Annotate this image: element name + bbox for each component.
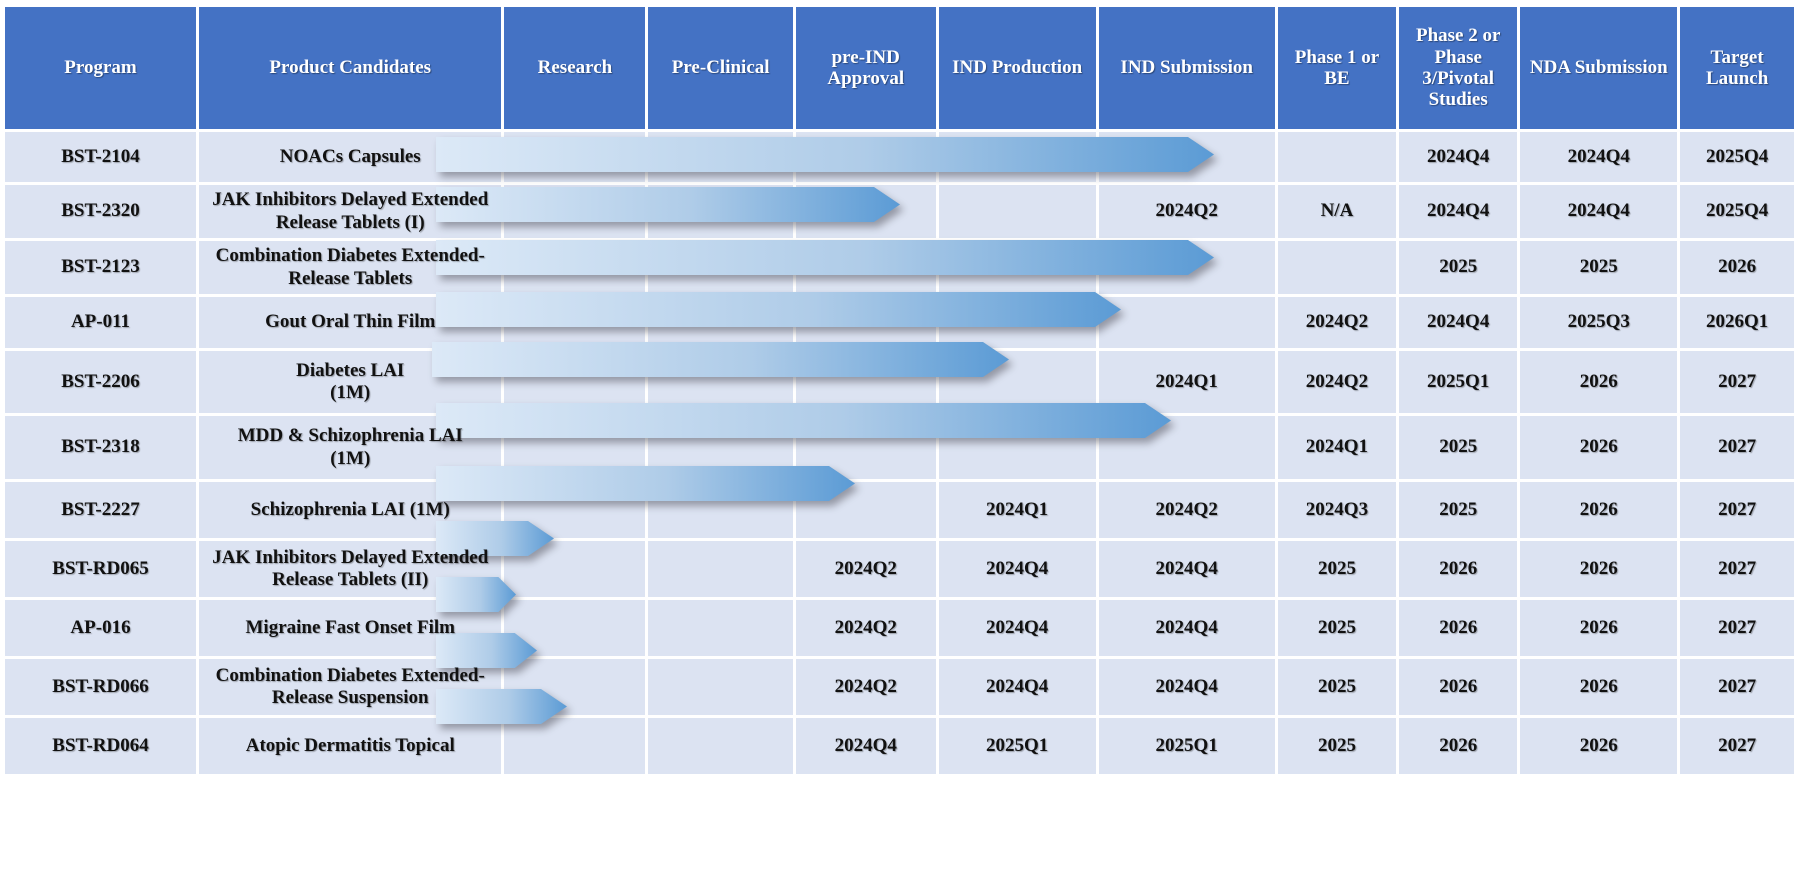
table-row: BST-RD064Atopic Dermatitis Topical2024Q4… (5, 718, 1794, 774)
cell-pre-ind-approval: 2024Q2 (796, 659, 936, 715)
cell-phase-2-or-3: 2024Q4 (1399, 185, 1517, 238)
cell-ind-production (939, 241, 1096, 294)
table-row: BST-2104NOACs Capsules2024Q42024Q42025Q4 (5, 132, 1794, 182)
cell-ind-submission: 2024Q4 (1099, 541, 1275, 597)
cell-phase-1-or-be (1278, 241, 1396, 294)
cell-pre-ind-approval (796, 482, 936, 538)
cell-phase-1-or-be: 2024Q2 (1278, 351, 1396, 413)
cell-pre-clinical (648, 297, 792, 348)
cell-pre-ind-approval (796, 297, 936, 348)
column-header-ind-production: IND Production (939, 7, 1096, 129)
cell-nda-submission: 2026 (1520, 351, 1677, 413)
cell-research (504, 482, 645, 538)
column-header-phase-2-or-3: Phase 2 or Phase 3/Pivotal Studies (1399, 7, 1517, 129)
cell-ind-production: 2024Q1 (939, 482, 1096, 538)
cell-program: AP-016 (5, 600, 196, 656)
cell-target-launch: 2026 (1680, 241, 1794, 294)
cell-target-launch: 2027 (1680, 482, 1794, 538)
cell-ind-submission: 2024Q1 (1099, 351, 1275, 413)
cell-phase-1-or-be: 2025 (1278, 541, 1396, 597)
cell-nda-submission: 2024Q4 (1520, 185, 1677, 238)
cell-product-candidate: Gout Oral Thin Film (199, 297, 501, 348)
cell-pre-clinical (648, 241, 792, 294)
cell-phase-1-or-be (1278, 132, 1396, 182)
cell-ind-submission (1099, 416, 1275, 479)
cell-target-launch: 2027 (1680, 541, 1794, 597)
cell-target-launch: 2026Q1 (1680, 297, 1794, 348)
cell-pre-clinical (648, 482, 792, 538)
cell-pre-clinical (648, 185, 792, 238)
cell-ind-production: 2024Q4 (939, 541, 1096, 597)
table-row: BST-2227Schizophrenia LAI (1M)2024Q12024… (5, 482, 1794, 538)
cell-phase-2-or-3: 2025Q1 (1399, 351, 1517, 413)
cell-program: BST-2320 (5, 185, 196, 238)
table-row: AP-016Migraine Fast Onset Film2024Q22024… (5, 600, 1794, 656)
cell-pre-ind-approval: 2024Q4 (796, 718, 936, 774)
cell-program: AP-011 (5, 297, 196, 348)
cell-phase-1-or-be: 2024Q1 (1278, 416, 1396, 479)
table-row: BST-2318MDD & Schizophrenia LAI(1M)2024Q… (5, 416, 1794, 479)
cell-nda-submission: 2026 (1520, 659, 1677, 715)
table-row: BST-2320JAK Inhibitors Delayed Extended … (5, 185, 1794, 238)
cell-pre-ind-approval (796, 241, 936, 294)
table-row: BST-2123Combination Diabetes Extended-Re… (5, 241, 1794, 294)
cell-ind-submission: 2024Q2 (1099, 482, 1275, 538)
cell-target-launch: 2025Q4 (1680, 185, 1794, 238)
cell-program: BST-2318 (5, 416, 196, 479)
cell-ind-production: 2024Q4 (939, 600, 1096, 656)
cell-product-candidate: Atopic Dermatitis Topical (199, 718, 501, 774)
cell-product-candidate: Migraine Fast Onset Film (199, 600, 501, 656)
cell-pre-ind-approval (796, 416, 936, 479)
cell-pre-ind-approval: 2024Q2 (796, 541, 936, 597)
column-header-target-launch: Target Launch (1680, 7, 1794, 129)
cell-phase-1-or-be: N/A (1278, 185, 1396, 238)
cell-ind-production (939, 132, 1096, 182)
pipeline-chart: Program Product Candidates Research Pre-… (0, 4, 1801, 870)
cell-program: BST-RD066 (5, 659, 196, 715)
cell-phase-2-or-3: 2024Q4 (1399, 132, 1517, 182)
cell-phase-2-or-3: 2024Q4 (1399, 297, 1517, 348)
cell-product-candidate: NOACs Capsules (199, 132, 501, 182)
cell-phase-1-or-be: 2025 (1278, 718, 1396, 774)
cell-phase-2-or-3: 2025 (1399, 241, 1517, 294)
cell-research (504, 659, 645, 715)
cell-product-candidate: JAK Inhibitors Delayed Extended Release … (199, 541, 501, 597)
cell-phase-2-or-3: 2025 (1399, 416, 1517, 479)
cell-phase-2-or-3: 2026 (1399, 718, 1517, 774)
cell-pre-ind-approval: 2024Q2 (796, 600, 936, 656)
table-row: BST-2206Diabetes LAI(1M)2024Q12024Q22025… (5, 351, 1794, 413)
table-row: AP-011Gout Oral Thin Film2024Q22024Q4202… (5, 297, 1794, 348)
column-header-nda-submission: NDA Submission (1520, 7, 1677, 129)
pipeline-table: Program Product Candidates Research Pre-… (2, 4, 1797, 777)
cell-nda-submission: 2026 (1520, 482, 1677, 538)
cell-phase-2-or-3: 2025 (1399, 482, 1517, 538)
cell-pre-clinical (648, 718, 792, 774)
cell-ind-submission (1099, 297, 1275, 348)
cell-ind-submission: 2024Q2 (1099, 185, 1275, 238)
cell-target-launch: 2027 (1680, 416, 1794, 479)
column-header-research: Research (504, 7, 645, 129)
cell-target-launch: 2025Q4 (1680, 132, 1794, 182)
cell-pre-clinical (648, 600, 792, 656)
cell-research (504, 132, 645, 182)
column-header-ind-submission: IND Submission (1099, 7, 1275, 129)
cell-pre-ind-approval (796, 351, 936, 413)
table-header-row: Program Product Candidates Research Pre-… (5, 7, 1794, 129)
cell-nda-submission: 2026 (1520, 541, 1677, 597)
cell-phase-1-or-be: 2024Q2 (1278, 297, 1396, 348)
cell-program: BST-2206 (5, 351, 196, 413)
cell-target-launch: 2027 (1680, 718, 1794, 774)
cell-nda-submission: 2025 (1520, 241, 1677, 294)
cell-nda-submission: 2026 (1520, 718, 1677, 774)
column-header-product-candidates: Product Candidates (199, 7, 501, 129)
cell-nda-submission: 2026 (1520, 416, 1677, 479)
cell-pre-clinical (648, 351, 792, 413)
cell-pre-clinical (648, 416, 792, 479)
cell-pre-clinical (648, 541, 792, 597)
cell-phase-1-or-be: 2025 (1278, 659, 1396, 715)
cell-ind-production (939, 185, 1096, 238)
cell-product-candidate: Combination Diabetes Extended-Release Ta… (199, 241, 501, 294)
cell-pre-clinical (648, 659, 792, 715)
cell-program: BST-2227 (5, 482, 196, 538)
cell-research (504, 297, 645, 348)
cell-product-candidate: Combination Diabetes Extended-Release Su… (199, 659, 501, 715)
cell-ind-production: 2024Q4 (939, 659, 1096, 715)
cell-phase-2-or-3: 2026 (1399, 541, 1517, 597)
cell-product-candidate: Schizophrenia LAI (1M) (199, 482, 501, 538)
cell-research (504, 718, 645, 774)
cell-phase-2-or-3: 2026 (1399, 600, 1517, 656)
table-row: BST-RD065JAK Inhibitors Delayed Extended… (5, 541, 1794, 597)
cell-research (504, 241, 645, 294)
cell-ind-production (939, 297, 1096, 348)
cell-research (504, 185, 645, 238)
cell-ind-submission: 2024Q4 (1099, 659, 1275, 715)
cell-pre-ind-approval (796, 185, 936, 238)
cell-product-candidate: Diabetes LAI(1M) (199, 351, 501, 413)
cell-research (504, 600, 645, 656)
cell-program: BST-2123 (5, 241, 196, 294)
cell-phase-1-or-be: 2025 (1278, 600, 1396, 656)
column-header-pre-ind-approval: pre-IND Approval (796, 7, 936, 129)
cell-pre-ind-approval (796, 132, 936, 182)
cell-ind-submission (1099, 241, 1275, 294)
cell-product-candidate: MDD & Schizophrenia LAI(1M) (199, 416, 501, 479)
cell-ind-production (939, 416, 1096, 479)
cell-program: BST-RD065 (5, 541, 196, 597)
column-header-pre-clinical: Pre-Clinical (648, 7, 792, 129)
table-row: BST-RD066Combination Diabetes Extended-R… (5, 659, 1794, 715)
cell-ind-submission (1099, 132, 1275, 182)
cell-ind-production: 2025Q1 (939, 718, 1096, 774)
cell-nda-submission: 2025Q3 (1520, 297, 1677, 348)
cell-nda-submission: 2024Q4 (1520, 132, 1677, 182)
cell-phase-2-or-3: 2026 (1399, 659, 1517, 715)
cell-phase-1-or-be: 2024Q3 (1278, 482, 1396, 538)
cell-research (504, 416, 645, 479)
cell-program: BST-RD064 (5, 718, 196, 774)
cell-target-launch: 2027 (1680, 600, 1794, 656)
cell-program: BST-2104 (5, 132, 196, 182)
cell-pre-clinical (648, 132, 792, 182)
cell-product-candidate: JAK Inhibitors Delayed Extended Release … (199, 185, 501, 238)
cell-ind-submission: 2025Q1 (1099, 718, 1275, 774)
cell-research (504, 541, 645, 597)
cell-ind-production (939, 351, 1096, 413)
cell-target-launch: 2027 (1680, 659, 1794, 715)
cell-nda-submission: 2026 (1520, 600, 1677, 656)
cell-ind-submission: 2024Q4 (1099, 600, 1275, 656)
column-header-phase-1-or-be: Phase 1 or BE (1278, 7, 1396, 129)
column-header-program: Program (5, 7, 196, 129)
cell-research (504, 351, 645, 413)
table-body: BST-2104NOACs Capsules2024Q42024Q42025Q4… (5, 132, 1794, 774)
cell-target-launch: 2027 (1680, 351, 1794, 413)
